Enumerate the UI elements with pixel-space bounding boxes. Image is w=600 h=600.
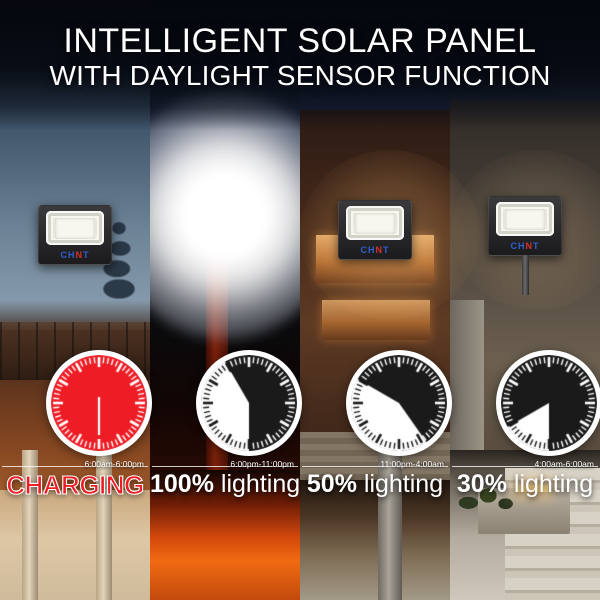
brand-text-2: N xyxy=(376,245,384,255)
brand-text-3: T xyxy=(83,250,90,260)
clock-dial-50 xyxy=(346,350,452,456)
column-right xyxy=(96,450,112,600)
step-light-glow xyxy=(518,485,548,492)
column-left xyxy=(22,450,38,600)
clock-canvas xyxy=(501,355,597,451)
brand-logo: CHNT xyxy=(489,241,561,251)
lamp-lens xyxy=(46,211,104,245)
product-infographic: CHNT CHNT CHNT INTELLIGENT SOLAR PANEL W… xyxy=(0,0,600,600)
brand-text-3: T xyxy=(533,241,540,251)
clock-canvas xyxy=(351,355,447,451)
clock-dial-30 xyxy=(496,350,600,456)
brand-logo: CHNT xyxy=(39,250,111,260)
porch-column xyxy=(378,450,402,600)
clock-dial-100 xyxy=(196,350,302,456)
clock-face xyxy=(201,355,297,451)
shrub xyxy=(456,466,518,512)
clock-face xyxy=(501,355,597,451)
window-lower xyxy=(322,300,430,340)
ground-lit-orange xyxy=(150,470,300,600)
solar-flood-lamp-3: CHNT xyxy=(338,200,412,260)
brand-text-1: CH xyxy=(61,250,76,260)
header-overlay xyxy=(0,0,600,130)
lamp-lens xyxy=(346,206,404,240)
brand-text-1: CH xyxy=(361,245,376,255)
ground-plane xyxy=(300,480,450,600)
clock-dial-charging xyxy=(46,350,152,456)
lamp-mounting-pole xyxy=(522,255,529,295)
clock-face xyxy=(51,355,147,451)
clock-canvas xyxy=(51,355,147,451)
clock-face xyxy=(351,355,447,451)
exterior-column xyxy=(450,300,484,460)
lamp-lens xyxy=(496,202,554,236)
brand-text-2: N xyxy=(526,241,534,251)
brand-logo: CHNT xyxy=(339,245,411,255)
solar-flood-lamp-1: CHNT xyxy=(38,205,112,265)
solar-flood-lamp-4: CHNT xyxy=(488,196,562,256)
clock-canvas xyxy=(201,355,297,451)
brand-text-2: N xyxy=(76,250,84,260)
brand-text-1: CH xyxy=(511,241,526,251)
brand-text-3: T xyxy=(383,245,390,255)
